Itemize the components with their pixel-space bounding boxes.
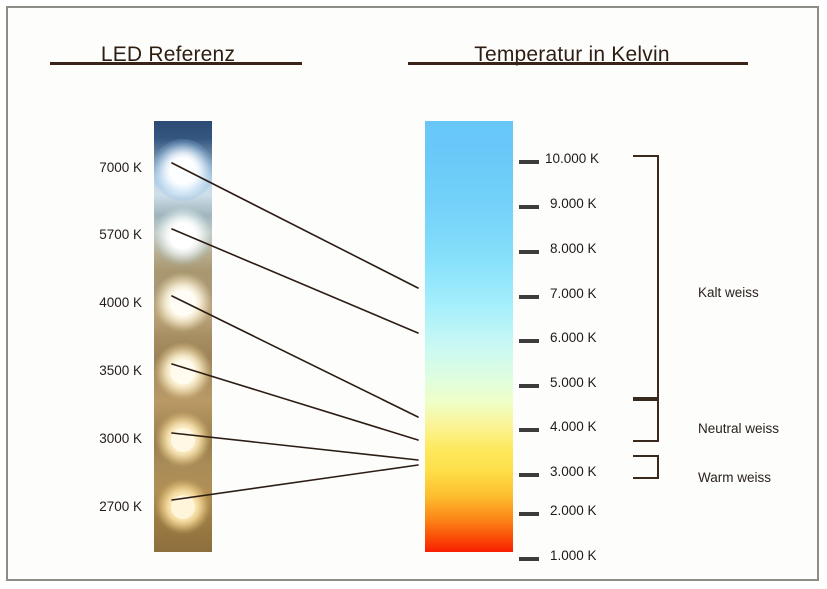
- tick-5000k: [519, 384, 539, 388]
- led-label-7000k: 7000 K: [58, 160, 142, 175]
- led-core-3000k: [171, 428, 195, 452]
- tick-10000k: [519, 160, 539, 164]
- scale-label-3000k: 3.000 K: [550, 464, 597, 479]
- led-core-3500k: [171, 359, 196, 384]
- category-label-neutral-weiss: Neutral weiss: [698, 421, 779, 436]
- led-core-5700k: [170, 223, 196, 249]
- tick-6000k: [519, 339, 539, 343]
- scale-label-6000k: 6.000 K: [550, 330, 597, 345]
- scale-label-10000k: 10.000 K: [545, 151, 599, 166]
- led-label-2700k: 2700 K: [58, 499, 142, 514]
- title-rule-right: [408, 62, 748, 65]
- figure-frame: LED Referenz Temperatur in Kelvin 7000 K…: [6, 6, 819, 581]
- scale-label-5000k: 5.000 K: [550, 375, 597, 390]
- title-rule-left: [50, 62, 302, 65]
- tick-4000k: [519, 428, 539, 432]
- scale-label-1000k: 1.000 K: [550, 548, 597, 563]
- scale-label-9000k: 9.000 K: [550, 196, 597, 211]
- tick-2000k: [519, 512, 539, 516]
- led-reference-strip: [154, 121, 212, 552]
- scale-label-8000k: 8.000 K: [550, 241, 597, 256]
- led-core-2700k: [171, 495, 195, 519]
- category-label-warm-weiss: Warm weiss: [698, 470, 771, 485]
- scale-label-4000k: 4.000 K: [550, 419, 597, 434]
- led-label-3000k: 3000 K: [58, 431, 142, 446]
- tick-8000k: [519, 250, 539, 254]
- scale-label-2000k: 2.000 K: [550, 503, 597, 518]
- tick-7000k: [519, 295, 539, 299]
- led-label-4000k: 4000 K: [58, 295, 142, 310]
- tick-1000k: [519, 557, 539, 561]
- led-core-4000k: [170, 290, 196, 316]
- scale-label-7000k: 7.000 K: [550, 286, 597, 301]
- tick-3000k: [519, 473, 539, 477]
- led-label-3500k: 3500 K: [58, 363, 142, 378]
- category-label-kalt-weiss: Kalt weiss: [698, 285, 759, 300]
- led-core-7000k: [170, 157, 197, 184]
- tick-9000k: [519, 205, 539, 209]
- kelvin-gradient-bar: [425, 121, 513, 552]
- led-label-5700k: 5700 K: [58, 227, 142, 242]
